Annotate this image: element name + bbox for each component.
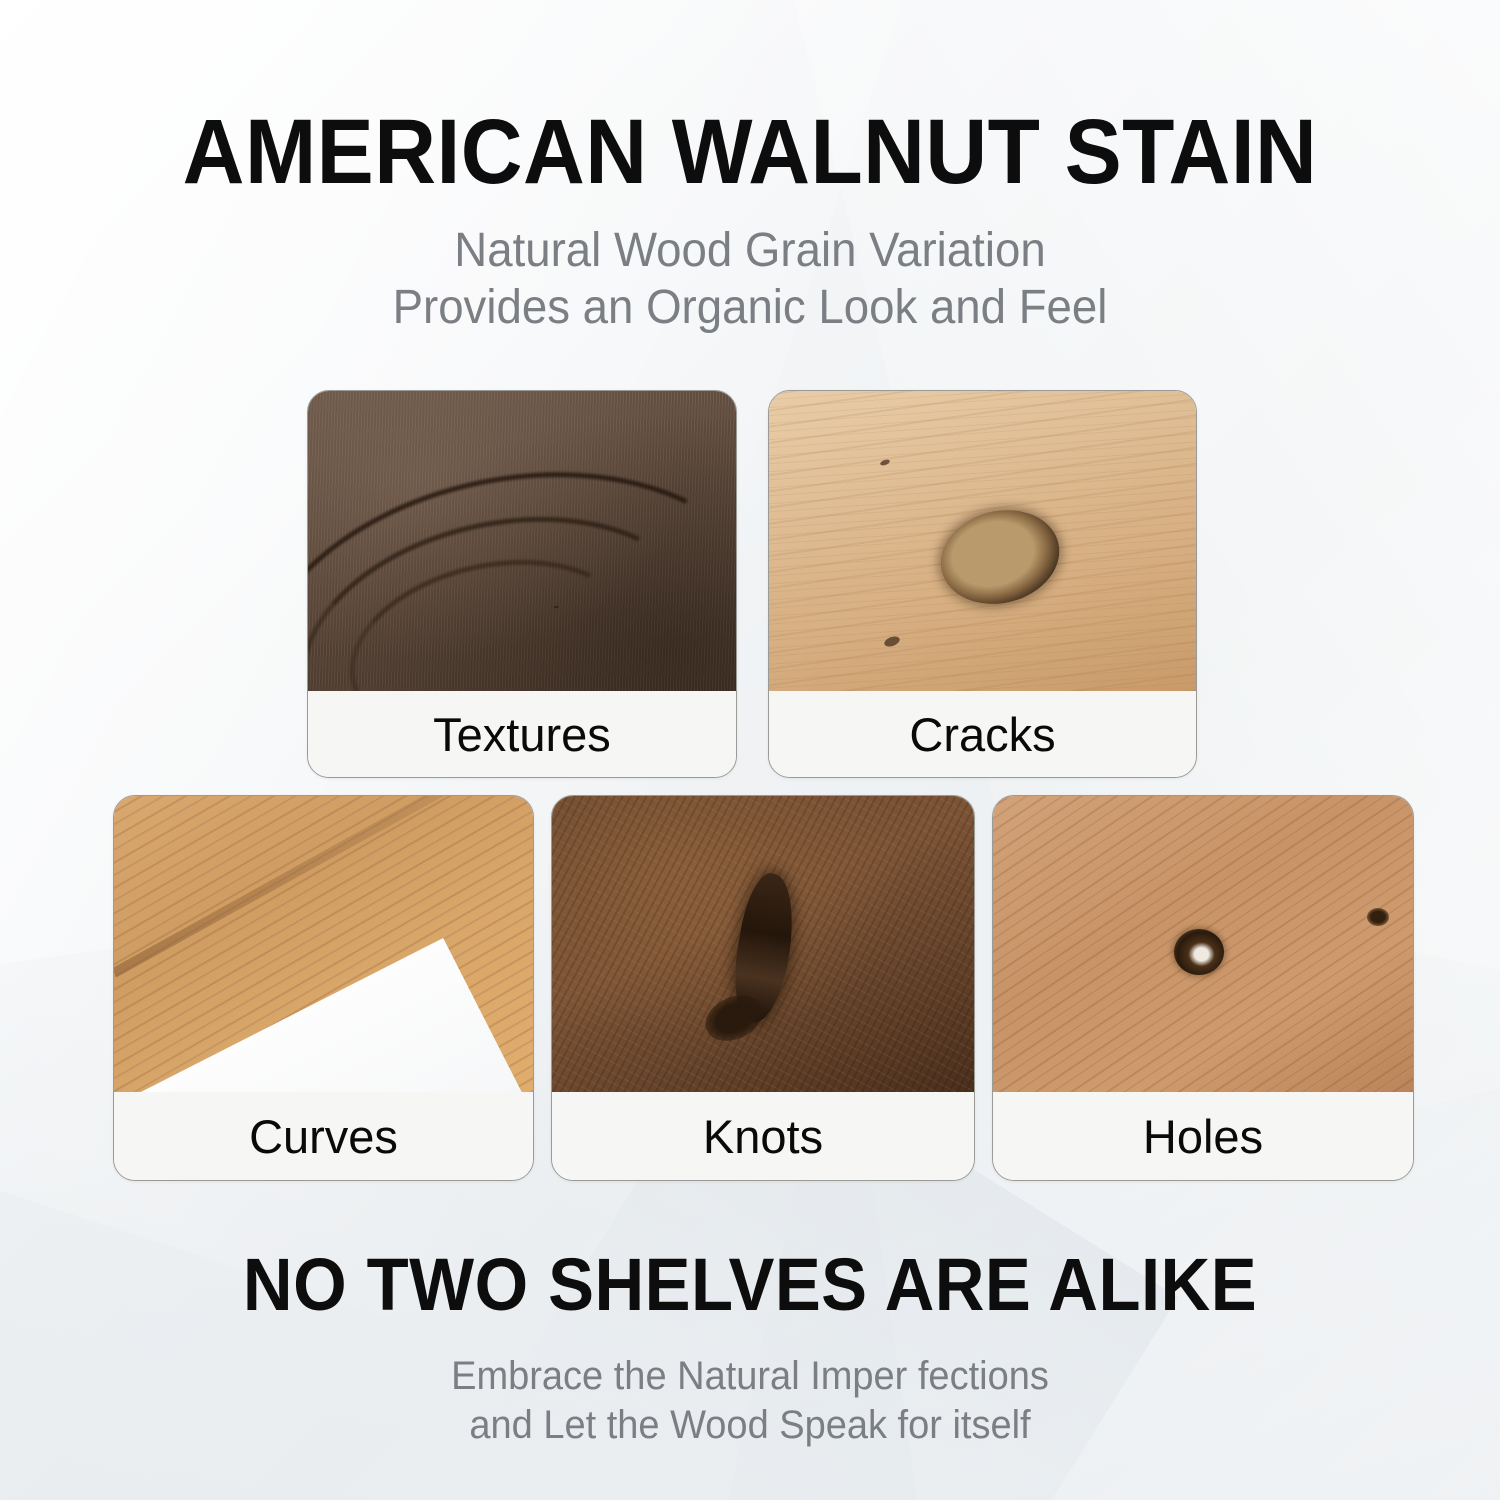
feature-label-knots: Knots [552, 1092, 974, 1180]
page-title: AMERICAN WALNUT STAIN [53, 104, 1448, 200]
feature-card-cracks[interactable]: Cracks [768, 390, 1197, 778]
feature-label-cracks: Cracks [769, 691, 1196, 777]
infographic-canvas: AMERICAN WALNUT STAIN Natural Wood Grain… [0, 0, 1500, 1500]
footer-subtitle-line-2: and Let the Wood Speak for itself [38, 1401, 1463, 1450]
wood-photo-textures [308, 391, 736, 691]
feature-label-curves: Curves [114, 1092, 533, 1180]
feature-card-knots[interactable]: Knots [551, 795, 975, 1181]
footer-title: NO TWO SHELVES ARE ALIKE [53, 1246, 1448, 1324]
feature-card-curves[interactable]: Curves [113, 795, 534, 1181]
footer-subtitle-line-1: Embrace the Natural Imper fections [38, 1352, 1463, 1401]
page-subtitle-line-2: Provides an Organic Look and Feel [38, 279, 1463, 336]
feature-card-holes[interactable]: Holes [992, 795, 1414, 1181]
page-subtitle-line-1: Natural Wood Grain Variation [38, 222, 1463, 279]
wood-photo-curves [114, 796, 533, 1092]
feature-label-textures: Textures [308, 691, 736, 777]
wood-photo-knots [552, 796, 974, 1092]
footer-subtitle: Embrace the Natural Imper fections and L… [38, 1352, 1463, 1450]
page-subtitle: Natural Wood Grain Variation Provides an… [38, 222, 1463, 336]
feature-card-textures[interactable]: Textures [307, 390, 737, 778]
wood-photo-holes [993, 796, 1413, 1092]
wood-photo-cracks [769, 391, 1196, 691]
feature-label-holes: Holes [993, 1092, 1413, 1180]
